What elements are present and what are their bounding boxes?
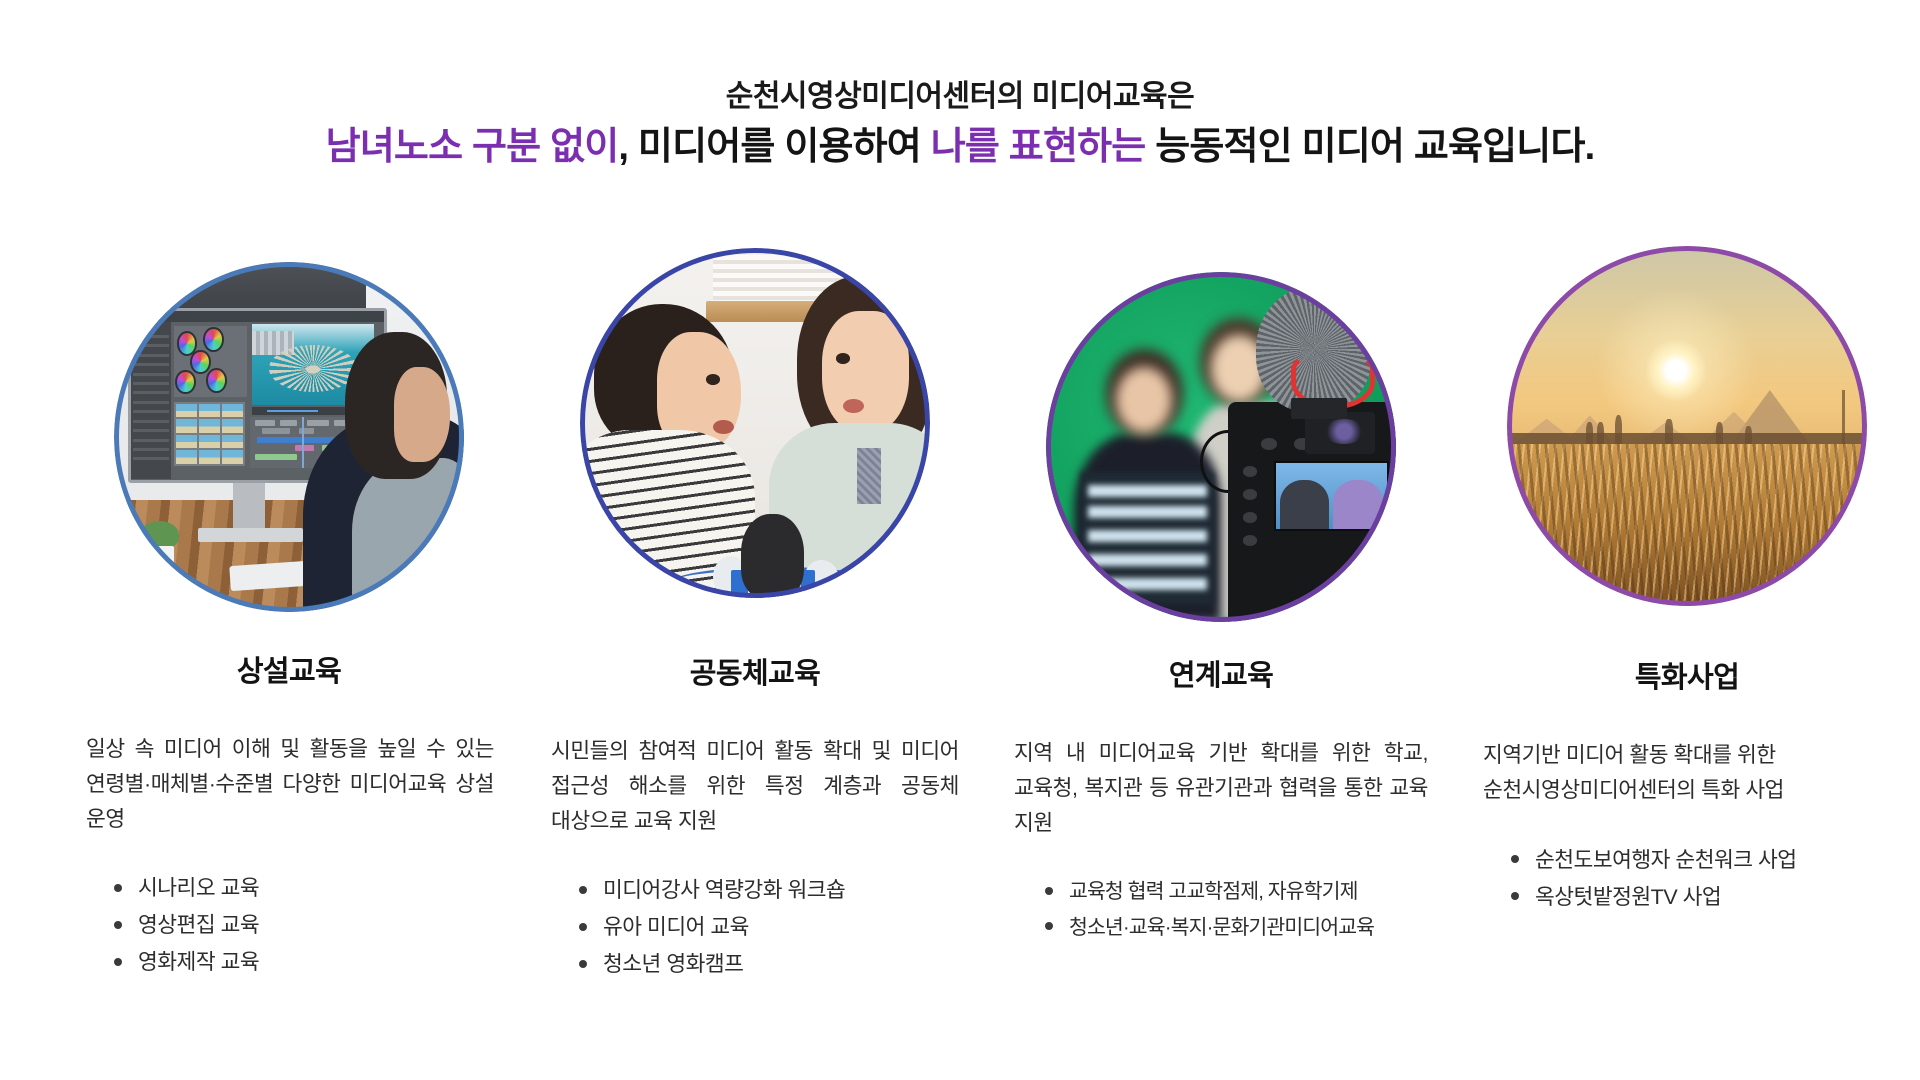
headline-end-text: 능동적인 미디어 교육입니다. (1145, 126, 1594, 168)
headline-block: 순천시영상미디어센터의 미디어교육은 남녀노소 구분 없이, 미디어를 이용하여… (0, 78, 1920, 170)
card-bullets-1: 시나리오 교육 영상편집 교육 영화제작 교육 (86, 870, 494, 981)
list-item: 청소년 영화캠프 (579, 946, 959, 983)
poster-page: 순천시영상미디어센터의 미디어교육은 남녀노소 구분 없이, 미디어를 이용하여… (0, 0, 1920, 1080)
list-item: 미디어강사 역량강화 워크숍 (579, 872, 959, 909)
two-children-with-robot-photo (580, 248, 930, 598)
card-body-text-2: 시민들의 참여적 미디어 활동 확대 및 미디어 접근성 해소를 위한 특정 계… (551, 734, 959, 838)
green-screen-camera-shoot-photo (1046, 272, 1396, 622)
list-item: 유아 미디어 교육 (579, 909, 959, 946)
card-body-1: 일상 속 미디어 이해 및 활동을 높일 수 있는 연령별·매체별·수준별 다양… (86, 732, 494, 836)
list-item: 옥상텃밭정원TV 사업 (1511, 879, 1891, 916)
headline-accent-1: 남녀노소 구분 없이 (326, 126, 619, 168)
circle-image-camera-shoot (1046, 272, 1396, 622)
circle-image-video-editing (114, 262, 464, 612)
headline-line-1: 순천시영상미디어센터의 미디어교육은 (0, 78, 1920, 116)
circle-image-children (580, 248, 930, 598)
card-title-4: 특화사업 (1635, 654, 1739, 696)
video-editing-workstation-photo (114, 262, 464, 612)
headline-line-2: 남녀노소 구분 없이, 미디어를 이용하여 나를 표현하는 능동적인 미디어 교… (0, 125, 1920, 171)
list-item: 청소년·교육·복지·문화기관미디어교육 (1045, 910, 1425, 945)
card-title-3: 연계교육 (1169, 652, 1273, 694)
headline-accent-2: 나를 표현하는 (931, 126, 1146, 168)
program-card-gongdongche: 공동체교육 시민들의 참여적 미디어 활동 확대 및 미디어 접근성 해소를 위… (522, 262, 988, 983)
circle-image-reed-field (1507, 246, 1867, 606)
program-columns: 상설교육 일상 속 미디어 이해 및 활동을 높일 수 있는 연령별·매체별·수… (0, 262, 1920, 983)
card-body-text-3: 지역 내 미디어교육 기반 확대를 위한 학교, 교육청, 복지관 등 유관기관… (1014, 736, 1428, 840)
card-bullets-4: 순천도보여행자 순천워크 사업 옥상텃밭정원TV 사업 (1483, 842, 1891, 916)
program-card-teukhwa: 특화사업 지역기반 미디어 활동 확대를 위한 순천시영상미디어센터의 특화 사… (1454, 262, 1920, 983)
card-body-text-1: 일상 속 미디어 이해 및 활동을 높일 수 있는 연령별·매체별·수준별 다양… (86, 732, 494, 836)
card-body-4: 지역기반 미디어 활동 확대를 위한 순천시영상미디어센터의 특화 사업 (1483, 738, 1891, 808)
program-card-sangseol: 상설교육 일상 속 미디어 이해 및 활동을 높일 수 있는 연령별·매체별·수… (56, 262, 522, 983)
list-item: 교육청 협력 고교학점제, 자유학기제 (1045, 874, 1425, 909)
card-bullets-2: 미디어강사 역량강화 워크숍 유아 미디어 교육 청소년 영화캠프 (551, 872, 959, 983)
program-card-yeongye: 연계교육 지역 내 미디어교육 기반 확대를 위한 학교, 교육청, 복지관 등… (988, 262, 1454, 983)
list-item: 순천도보여행자 순천워크 사업 (1511, 842, 1891, 879)
headline-middle-text: , 미디어를 이용하여 (618, 126, 930, 168)
list-item: 영상편집 교육 (114, 907, 494, 944)
card-body-3: 지역 내 미디어교육 기반 확대를 위한 학교, 교육청, 복지관 등 유관기관… (1014, 736, 1428, 840)
sunset-reed-field-photo (1507, 246, 1867, 606)
card-body-2: 시민들의 참여적 미디어 활동 확대 및 미디어 접근성 해소를 위한 특정 계… (551, 734, 959, 838)
card-bullets-3: 교육청 협력 고교학점제, 자유학기제 청소년·교육·복지·문화기관미디어교육 (1017, 874, 1425, 945)
list-item: 영화제작 교육 (114, 944, 494, 981)
card-title-2: 공동체교육 (690, 650, 820, 692)
card-body-text-4: 지역기반 미디어 활동 확대를 위한 순천시영상미디어센터의 특화 사업 (1483, 738, 1891, 808)
card-title-1: 상설교육 (237, 648, 341, 690)
list-item: 시나리오 교육 (114, 870, 494, 907)
